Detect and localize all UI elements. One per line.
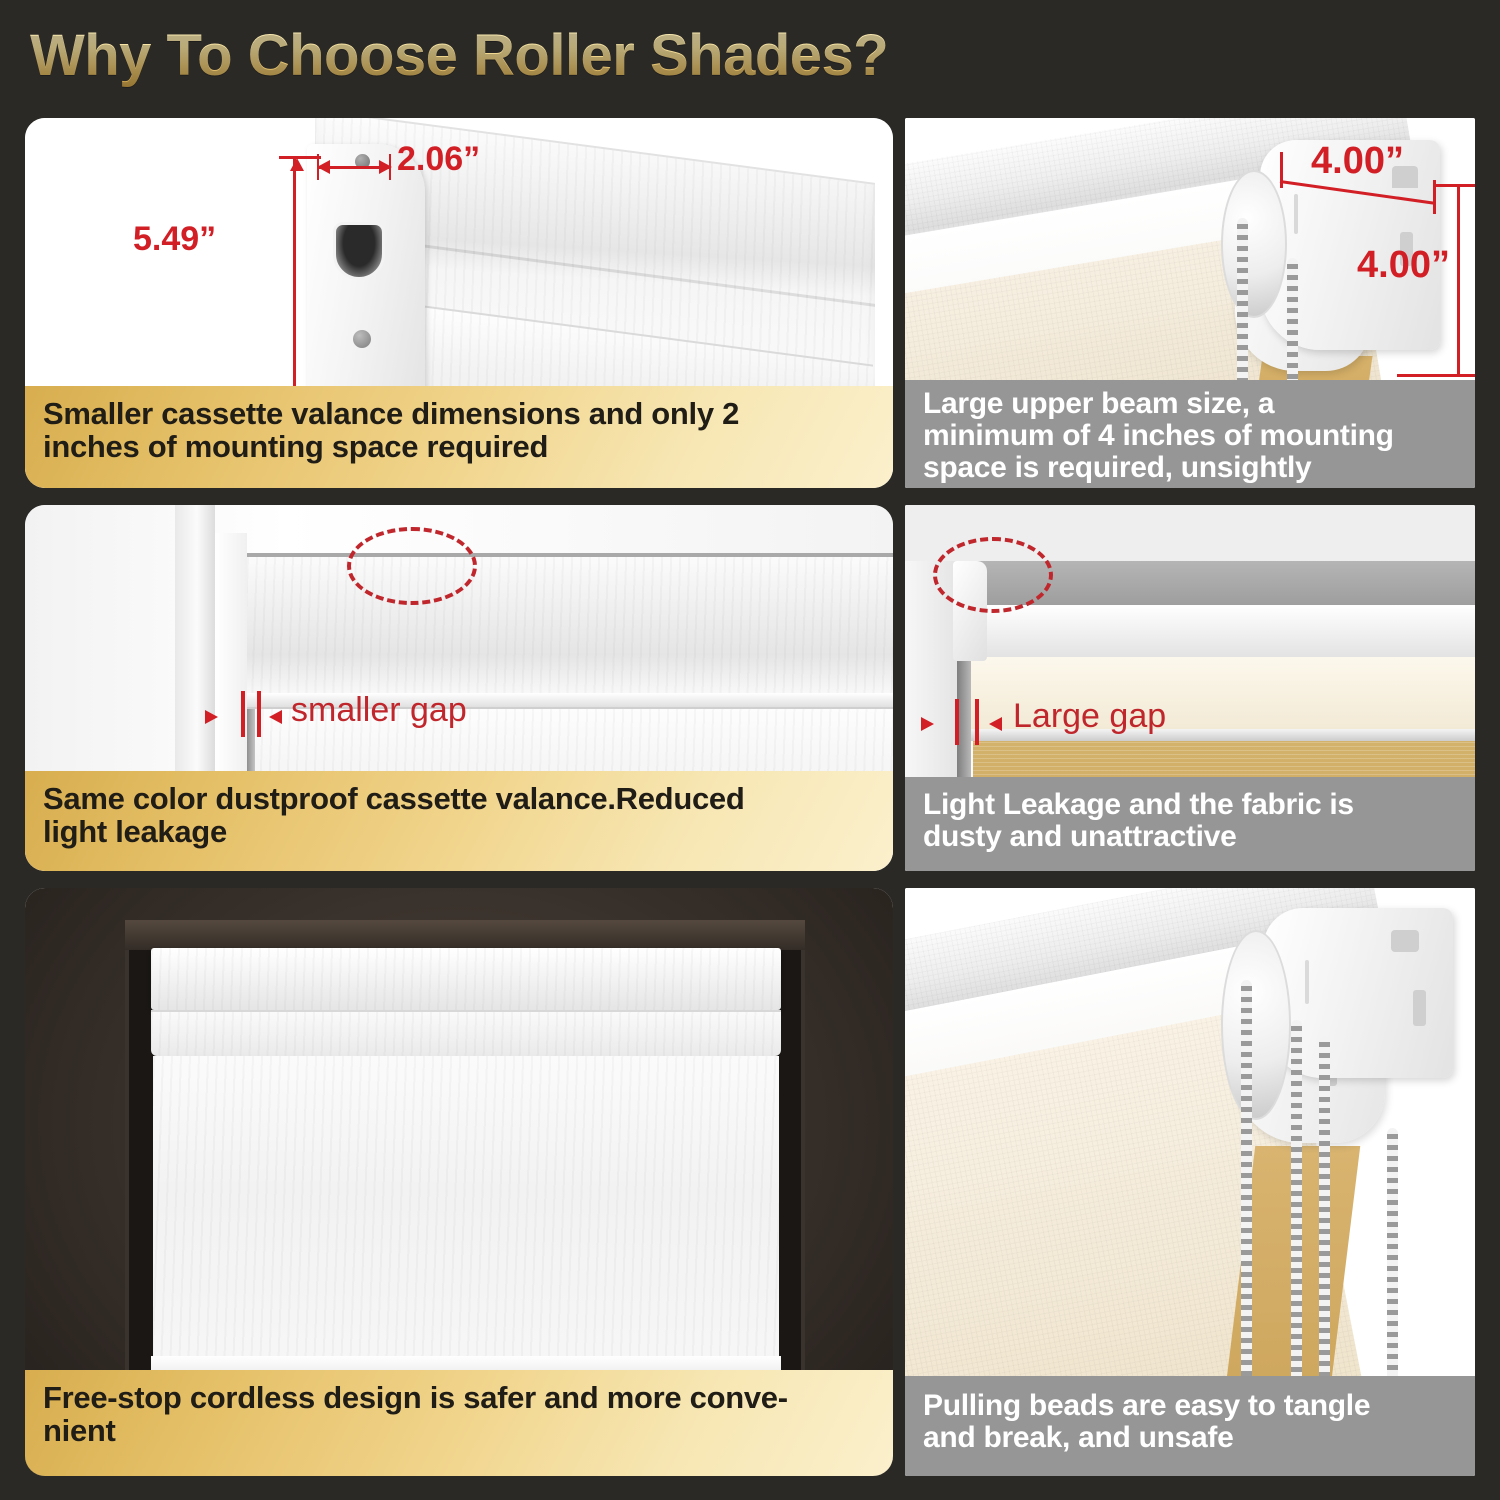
caption-line-2: inches of mounting space required (43, 431, 875, 464)
dim-arrow-up-icon (290, 158, 304, 171)
caption-line-2: minimum of 4 inches of mounting (923, 420, 1457, 452)
bracket-groove-icon (1305, 960, 1309, 1004)
dimension-width-label: 4.00” (1311, 140, 1404, 183)
gap-arrow-left-icon (269, 710, 282, 724)
caption-line-3: space is required, unsightly (923, 452, 1457, 484)
gap-label: smaller gap (291, 691, 467, 730)
caption-line-1: Pulling beads are easy to tangle (923, 1390, 1457, 1422)
cassette-valance (151, 948, 781, 1010)
bracket-slot-icon (333, 222, 385, 280)
window-header (125, 920, 805, 950)
caption-line-1: Smaller cassette valance dimensions and … (43, 398, 875, 431)
dim-arrow-right-icon (379, 160, 392, 174)
panel-5-caption: Free-stop cordless design is safer and m… (25, 1370, 893, 1476)
gap-tick-left (241, 691, 245, 737)
panel-light-leakage: Large gap Light Leakage and the fabric i… (905, 505, 1475, 871)
shade-fabric (153, 1056, 779, 1356)
dim-extension-bottom (1397, 374, 1475, 377)
gap-label: Large gap (1013, 697, 1166, 736)
highlight-ellipse (347, 527, 477, 605)
gap-tick-right (975, 699, 979, 745)
panel-1-caption: Smaller cassette valance dimensions and … (25, 386, 893, 488)
panel-3-caption: Same color dustproof cassette valance.Re… (25, 771, 893, 871)
gap-arrow-left-icon (989, 717, 1002, 731)
caption-line-2: light leakage (43, 816, 875, 849)
caption-line-1: Same color dustproof cassette valance.Re… (43, 783, 875, 816)
dim-extension-top (1433, 184, 1475, 187)
panel-cordless-design: Free-stop cordless design is safer and m… (25, 888, 893, 1476)
gap-tick-right (257, 691, 261, 737)
bracket-groove-icon (1294, 194, 1298, 234)
dimension-height-label: 4.00” (1357, 244, 1450, 287)
infographic-page: Why To Choose Roller Shades? 2.06” (0, 0, 1500, 1500)
caption-line-1: Large upper beam size, a (923, 388, 1457, 420)
bracket-slot-icon (1391, 930, 1419, 952)
texture-streaks (151, 1012, 781, 1056)
gap-arrow-right-icon (205, 710, 218, 724)
dim-line-height (1457, 184, 1460, 376)
texture-streaks (247, 557, 893, 693)
bracket-slot-icon (1413, 990, 1426, 1026)
caption-line-1: Free-stop cordless design is safer and m… (43, 1382, 875, 1415)
panel-dustproof-valance: smaller gap Same color dustproof cassett… (25, 505, 893, 871)
gap-arrow-right-icon (921, 717, 934, 731)
texture-streaks (151, 948, 781, 1010)
valance-lower-rail (151, 1010, 781, 1056)
dim-arrow-left-icon (317, 160, 330, 174)
panel-6-caption: Pulling beads are easy to tangle and bre… (905, 1376, 1475, 1476)
gap-tick-left (955, 699, 959, 745)
panel-2-caption: Large upper beam size, a minimum of 4 in… (905, 380, 1475, 488)
panel-smaller-cassette: 2.06” 5.49” Smaller cassette valance dim… (25, 118, 893, 488)
caption-line-2: nient (43, 1415, 875, 1448)
page-title: Why To Choose Roller Shades? (30, 22, 888, 89)
roller-tube (963, 605, 1475, 657)
dimension-width-label: 2.06” (397, 140, 480, 179)
dimension-height-label: 5.49” (133, 220, 216, 259)
roller-disc-icon (1221, 930, 1291, 1120)
highlight-ellipse (933, 537, 1053, 613)
caption-line-2: and break, and unsafe (923, 1422, 1457, 1454)
panel-pulling-beads: Pulling beads are easy to tangle and bre… (905, 888, 1475, 1476)
texture-streaks (153, 1056, 779, 1356)
caption-line-1: Light Leakage and the fabric is (923, 789, 1457, 821)
roller-disc-icon (1221, 170, 1287, 318)
panel-large-upper-beam: 4.00” 4.00” Large upper beam size, a min… (905, 118, 1475, 488)
screw-icon (353, 330, 371, 348)
panel-4-caption: Light Leakage and the fabric is dusty an… (905, 777, 1475, 871)
caption-line-2: dusty and unattractive (923, 821, 1457, 853)
cassette-valance (247, 553, 893, 693)
